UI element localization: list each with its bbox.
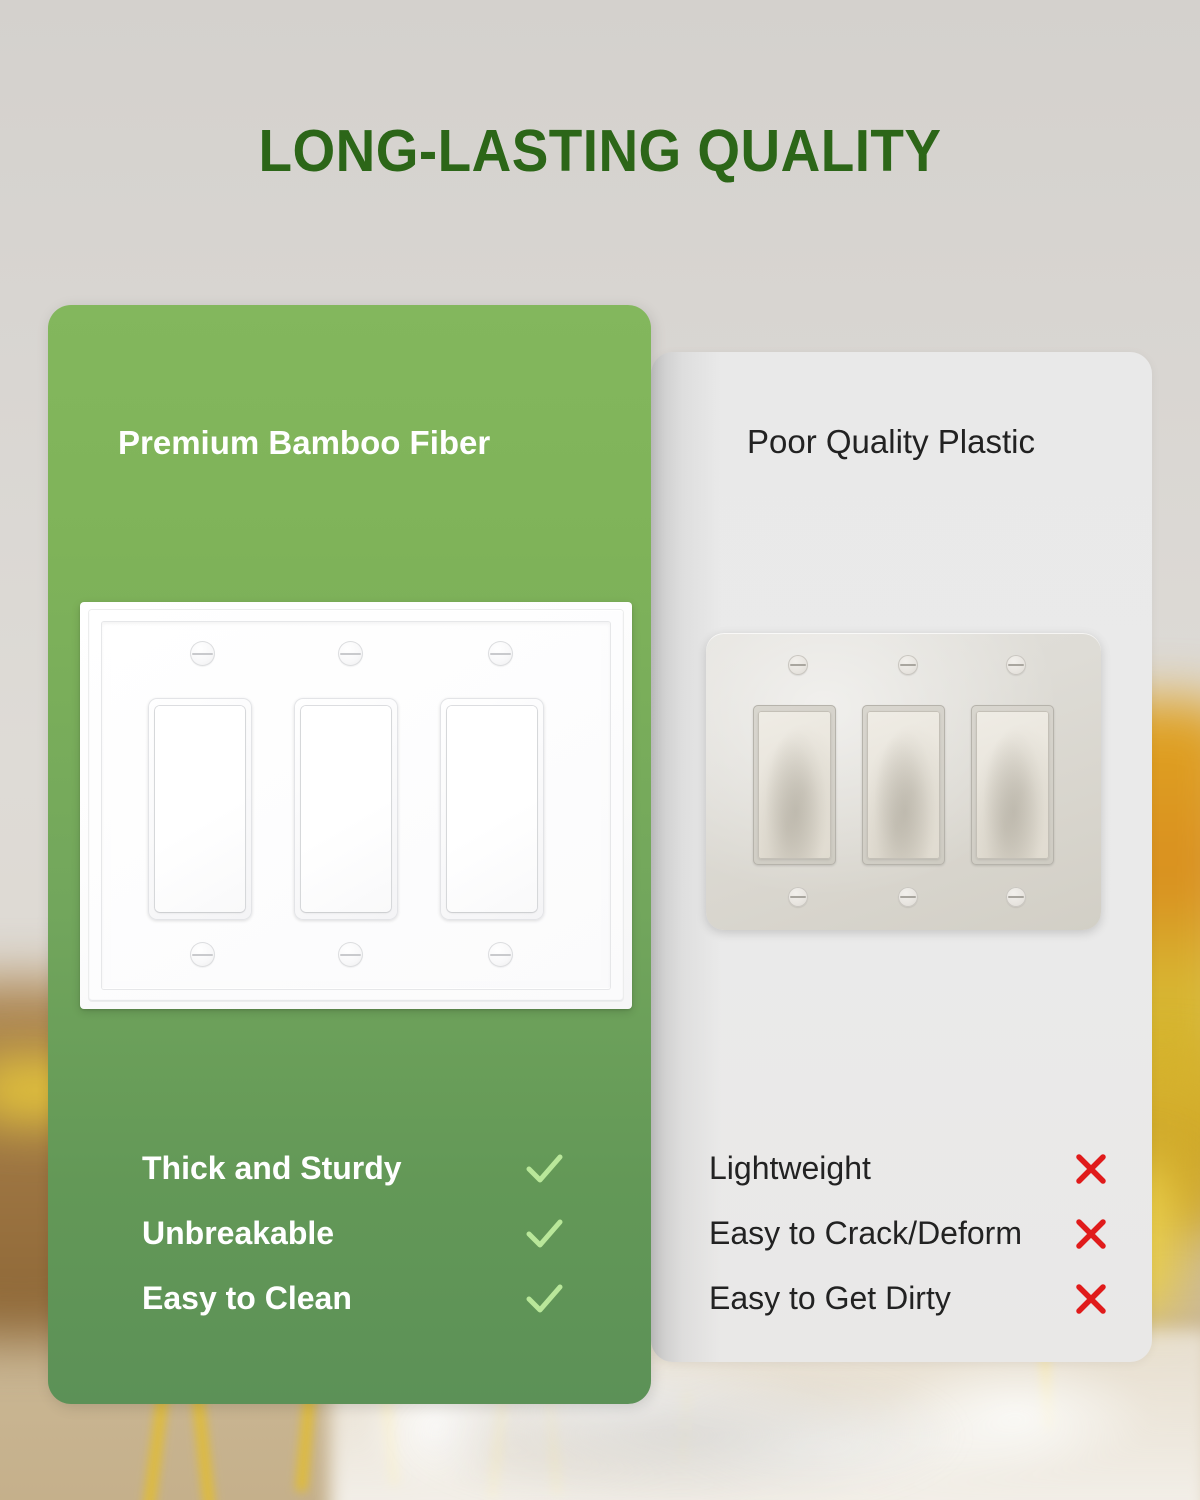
screw-icon <box>338 942 363 967</box>
rocker-switch <box>294 698 398 920</box>
rocker-paddle <box>758 711 831 859</box>
feature-row: Easy to Clean <box>142 1266 567 1331</box>
good-product-heading: Premium Bamboo Fiber <box>118 424 490 462</box>
feature-label: Thick and Sturdy <box>142 1150 402 1187</box>
feature-row: Thick and Sturdy <box>142 1136 567 1201</box>
page-title: LONG-LASTING QUALITY <box>42 117 1158 185</box>
screw-icon <box>788 655 808 675</box>
good-product-feature-list: Thick and Sturdy Unbreakable Easy to Cle… <box>142 1136 567 1331</box>
feature-row: Unbreakable <box>142 1201 567 1266</box>
screw-icon <box>1006 655 1026 675</box>
feature-row: Easy to Get Dirty <box>709 1266 1114 1331</box>
screw-icon <box>488 942 513 967</box>
rocker-switch <box>971 705 1054 865</box>
rocker-paddle <box>155 706 245 912</box>
check-icon <box>521 1146 567 1192</box>
screw-icon <box>338 641 363 666</box>
screw-icon <box>788 887 808 907</box>
bad-product-feature-list: Lightweight Easy to Crack/Deform Easy to… <box>709 1136 1114 1331</box>
rocker-paddle <box>976 711 1049 859</box>
dirty-plastic-wall-plate-image <box>706 633 1101 930</box>
screw-icon <box>1006 887 1026 907</box>
rocker-paddle <box>447 706 537 912</box>
cross-icon <box>1068 1211 1114 1257</box>
rocker-paddle <box>301 706 391 912</box>
check-icon <box>521 1211 567 1257</box>
screw-icon <box>488 641 513 666</box>
feature-label: Easy to Get Dirty <box>709 1280 951 1317</box>
feature-row: Easy to Crack/Deform <box>709 1201 1114 1266</box>
feature-label: Easy to Crack/Deform <box>709 1215 1022 1252</box>
rocker-switch <box>753 705 836 865</box>
check-icon <box>521 1276 567 1322</box>
cross-icon <box>1068 1146 1114 1192</box>
screw-icon <box>898 655 918 675</box>
screw-icon <box>190 942 215 967</box>
cross-icon <box>1068 1276 1114 1322</box>
feature-label: Unbreakable <box>142 1215 334 1252</box>
rocker-switch <box>440 698 544 920</box>
rocker-switch <box>862 705 945 865</box>
feature-label: Lightweight <box>709 1150 871 1187</box>
bad-product-heading: Poor Quality Plastic <box>747 423 1035 461</box>
rocker-switch <box>148 698 252 920</box>
screw-icon <box>898 887 918 907</box>
screw-icon <box>190 641 215 666</box>
bamboo-fiber-wall-plate-image <box>80 602 632 1009</box>
feature-label: Easy to Clean <box>142 1280 352 1317</box>
rocker-paddle <box>867 711 940 859</box>
feature-row: Lightweight <box>709 1136 1114 1201</box>
